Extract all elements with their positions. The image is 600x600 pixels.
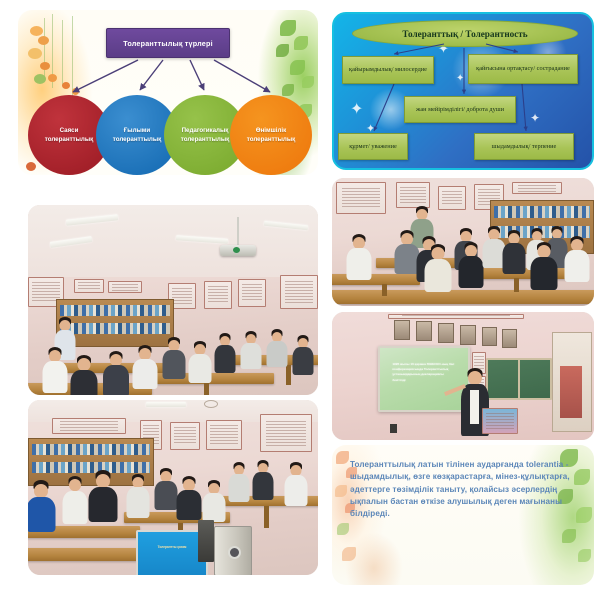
person-student — [154, 468, 178, 510]
person-student — [214, 333, 236, 373]
pc-drive-icon — [228, 546, 241, 559]
desk-leg — [514, 278, 519, 292]
tolerance-definition-text: Толеранттылық латын тілінен аударғанда t… — [350, 459, 580, 520]
wall-poster — [512, 182, 562, 194]
leaf-icon — [280, 20, 296, 36]
student-desk — [332, 290, 594, 304]
person-student — [266, 329, 288, 367]
person-student — [62, 476, 88, 524]
classroom-photo-students-desks[interactable] — [332, 178, 594, 306]
bookshelf-row — [494, 206, 590, 218]
wall-poster — [396, 182, 430, 208]
leaf-icon — [34, 74, 46, 84]
wall-portrait — [482, 327, 497, 346]
wall-poster — [108, 281, 142, 293]
leaf-icon — [336, 451, 349, 464]
leaf-icon — [578, 549, 591, 562]
person-student — [424, 244, 452, 292]
speaker — [198, 520, 214, 562]
photo-collage: Толеранттылық түрлері Саяси толеранттылы… — [0, 0, 600, 600]
wall-portrait — [394, 320, 410, 340]
bookshelf-row — [60, 323, 170, 334]
tolerance-types-header: Толеранттылық түрлері — [106, 28, 230, 58]
flower-petal-icon — [38, 36, 49, 45]
projector-rod — [237, 217, 239, 247]
classroom-photo-wide-computer[interactable]: Толерантты қоғам — [28, 400, 318, 575]
leaf-icon — [282, 84, 294, 96]
leaf-icon — [342, 547, 356, 561]
wall-poster — [280, 275, 318, 309]
wall-poster — [204, 281, 232, 309]
desk-object — [390, 424, 397, 433]
concept-box-compassion[interactable]: қайғысына ортақтасу/ сострадание — [468, 54, 578, 84]
person-student — [42, 347, 68, 393]
student-desk — [28, 548, 148, 561]
desk-leg — [382, 284, 387, 296]
person-student — [252, 460, 274, 500]
wall-poster — [52, 418, 126, 434]
vine-line-icon — [62, 20, 63, 86]
flower-petal-icon — [28, 48, 42, 59]
person-student — [132, 345, 158, 389]
person-student — [228, 462, 250, 502]
wall-portrait — [460, 325, 476, 345]
bookshelf-row — [32, 444, 150, 455]
sparkle-icon: ✦ — [530, 112, 540, 124]
person-student — [458, 242, 484, 288]
person-student — [176, 476, 202, 520]
wall-poster — [170, 422, 200, 450]
leaf-icon — [562, 529, 576, 543]
concept-box-mercy[interactable]: қайырымдылық/ милосердие — [342, 56, 434, 84]
wall-banner — [388, 314, 524, 319]
person-student — [346, 234, 372, 280]
person-student — [102, 351, 129, 395]
person-student — [240, 331, 262, 369]
person-student — [284, 462, 308, 506]
vine-line-icon — [72, 16, 73, 96]
person-student — [502, 230, 526, 274]
wall-poster — [238, 279, 266, 307]
person-student — [126, 474, 150, 518]
leaf-icon — [294, 36, 308, 50]
wall-poster — [336, 182, 386, 214]
leaf-icon — [302, 76, 314, 88]
person-student — [564, 236, 590, 282]
ceiling-lamp-icon — [146, 402, 186, 407]
bookshelf-row — [60, 305, 170, 316]
tolerance-type-circle-productive[interactable]: Өнімшілік толеранттылық — [230, 95, 312, 175]
leaf-icon — [290, 60, 305, 75]
door-panel — [560, 366, 582, 418]
person-student — [70, 355, 98, 395]
person-student — [162, 337, 186, 379]
tolerance-definition-panel[interactable]: Толеранттылық латын тілінен аударғанда t… — [332, 445, 594, 585]
leaf-icon — [337, 523, 349, 535]
sparkle-icon: ✦ — [456, 74, 464, 84]
tolerance-types-slide[interactable]: Толеранттылық түрлері Саяси толеранттылы… — [18, 10, 318, 175]
wall-portrait — [438, 323, 454, 343]
chalkboard-divider — [518, 358, 520, 400]
desk-leg — [204, 383, 209, 395]
wall-portrait — [416, 321, 432, 341]
person-student — [28, 480, 56, 532]
person-student — [88, 470, 118, 522]
person-student — [292, 335, 314, 375]
person-student — [202, 480, 226, 522]
projector-lens-icon — [233, 247, 240, 253]
wall-portrait — [502, 329, 517, 348]
flower-petal-icon — [26, 162, 36, 171]
leaf-icon — [335, 485, 347, 497]
projector-mount-icon — [204, 400, 218, 408]
projection-screen[interactable]: 1995 жылы 16 қараша ЮНЕСКО-ның бас конфе… — [378, 346, 470, 412]
desk-leg — [286, 365, 291, 385]
wall-poster — [260, 414, 312, 452]
projection-screen-text: 1995 жылы 16 қараша ЮНЕСКО-ның бас конфе… — [392, 362, 457, 384]
flower-petal-icon — [72, 88, 79, 95]
wall-poster — [482, 408, 518, 434]
tolerance-concept-title: Толеранттық / Толерантность — [352, 20, 578, 47]
person-student — [530, 242, 558, 290]
wall-poster — [206, 420, 242, 450]
person-student — [188, 341, 212, 383]
classroom-photo-wide-projector[interactable] — [28, 205, 318, 395]
leaf-icon — [276, 44, 289, 57]
desk-leg — [264, 506, 269, 528]
concept-box-respect[interactable]: құрмет/ уважение — [338, 133, 408, 160]
wall-poster — [438, 186, 466, 210]
flower-petal-icon — [40, 62, 50, 70]
concept-box-kindness[interactable]: жан мейірімділігі/ доброта души — [404, 96, 516, 123]
classroom-photo-presenter-screen[interactable]: 1995 жылы 16 қараша ЮНЕСКО-ның бас конфе… — [332, 312, 594, 440]
flower-petal-icon — [48, 74, 57, 82]
wall-poster — [74, 279, 104, 293]
tolerance-concept-slide[interactable]: ✦ ✦ ✦ ✦ ✦ ✦ ✦ ✦ Толеранттық / Толерантно… — [332, 12, 594, 170]
monitor-screen-text: Толерантты қоғам — [145, 545, 199, 550]
concept-box-patience[interactable]: шыдамдылық/ терпение — [474, 133, 574, 160]
flower-petal-icon — [30, 26, 43, 36]
sparkle-icon: ✦ — [350, 102, 363, 118]
flower-petal-icon — [62, 82, 70, 89]
